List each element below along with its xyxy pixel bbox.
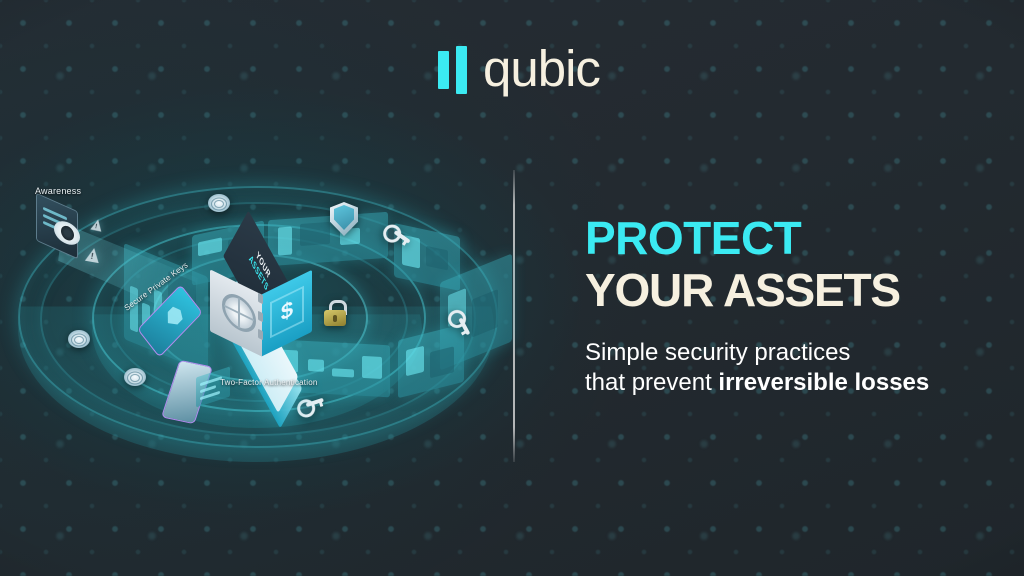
warning-triangle-icon: [90, 218, 103, 231]
security-illustration: YOUR ASSETS $ Awareness Secure Private K…: [0, 150, 520, 470]
page-title: PROTECT YOUR ASSETS: [585, 212, 985, 316]
headline-block: PROTECT YOUR ASSETS Simple security prac…: [585, 212, 985, 398]
headline-line2: YOUR ASSETS: [585, 264, 985, 316]
qubic-bars-icon: [437, 42, 477, 94]
subtitle-line2-emphasis: irreversible losses: [718, 369, 929, 396]
label-two-factor-authentication: Two-Factor Authentication: [220, 378, 318, 387]
shield-icon: [330, 202, 358, 236]
fingerprint-icon: [124, 368, 146, 386]
subtitle-line2-prefix: that prevent: [585, 369, 718, 396]
headline-line1: PROTECT: [585, 212, 985, 264]
fingerprint-icon: [208, 194, 230, 212]
brand-logo[interactable]: qubic: [437, 38, 600, 98]
slide-canvas: qubic: [0, 0, 1024, 576]
padlock-icon: [324, 300, 346, 326]
subtitle: Simple security practices that prevent i…: [585, 338, 985, 398]
vault-graphic: YOUR ASSETS $: [196, 246, 324, 376]
warning-triangle-icon: [85, 247, 101, 263]
subtitle-line1: Simple security practices: [585, 338, 985, 368]
fingerprint-icon: [68, 330, 90, 348]
label-awareness: Awareness: [35, 186, 81, 196]
brand-name: qubic: [483, 43, 600, 94]
subtitle-line2: that prevent irreversible losses: [585, 368, 985, 398]
